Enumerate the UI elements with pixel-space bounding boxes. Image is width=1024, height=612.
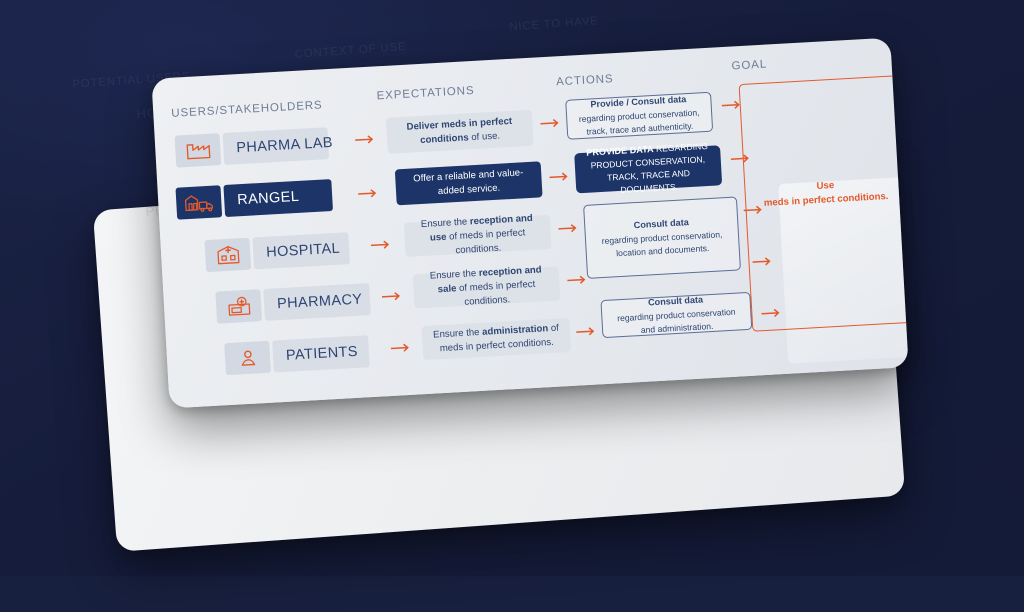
- arrow-icon: [558, 223, 579, 233]
- expectation-chip-hospital[interactable]: Ensure the reception and use of meds in …: [404, 215, 552, 257]
- stakeholder-row-pharmacy[interactable]: PHARMACY: [215, 283, 371, 324]
- action-text: Consult dataregarding product conservati…: [593, 214, 731, 261]
- stakeholder-row-rangel[interactable]: RANGEL: [175, 179, 333, 220]
- stakeholder-label: RANGEL: [223, 179, 333, 217]
- stakeholder-label: HOSPITAL: [252, 232, 350, 269]
- arrow-icon: [358, 188, 379, 198]
- stakeholder-row-hospital[interactable]: HOSPITAL: [204, 232, 350, 272]
- person-icon: [224, 341, 271, 375]
- stakeholder-row-pharma-lab[interactable]: PHARMA LAB: [175, 127, 330, 167]
- action-box-provide-data[interactable]: PROVIDE DATA REGARDING PRODUCT CONSERVAT…: [574, 145, 722, 193]
- screenshot-root: POTENTIAL USERS CONTEXT OF USE NICE TO H…: [0, 0, 1024, 576]
- ghost-text: CONTEXT OF USE: [294, 41, 407, 61]
- arrow-icon: [391, 343, 412, 353]
- expectation-text: Ensure the reception and use of meds in …: [413, 212, 543, 261]
- column-header-users-stakeholders: USERS/STAKEHOLDERS: [171, 99, 323, 119]
- warehouse-truck-icon: [175, 185, 222, 219]
- expectation-text: Ensure the administration of meds in per…: [431, 322, 562, 357]
- expectation-chip-pharmacy[interactable]: Ensure the reception and sale of meds in…: [413, 266, 561, 308]
- primary-journey-card: USERS/STAKEHOLDERS EXPECTATIONS ACTIONS …: [151, 38, 908, 409]
- arrow-icon: [549, 172, 570, 182]
- action-box-provide-consult-data[interactable]: Provide / Consult dataregarding product …: [565, 92, 713, 140]
- column-header-goal: GOAL: [731, 59, 767, 73]
- stakeholder-label: PHARMACY: [263, 283, 371, 321]
- arrow-icon: [567, 275, 588, 285]
- arrow-icon: [540, 118, 561, 128]
- stakeholder-label: PATIENTS: [272, 335, 370, 372]
- ghost-text: NICE TO HAVE: [509, 15, 599, 33]
- arrow-icon: [576, 326, 597, 336]
- expectation-chip-pharma-lab[interactable]: Deliver meds in perfect conditions of us…: [386, 110, 534, 154]
- column-header-expectations: EXPECTATIONS: [376, 85, 474, 102]
- expectation-chip-rangel[interactable]: Offer a reliable and value-added service…: [395, 161, 543, 205]
- arrow-icon: [355, 134, 376, 144]
- pharmacy-icon: [215, 289, 262, 323]
- hospital-icon: [204, 238, 251, 272]
- expectation-text: Deliver meds in perfect conditions of us…: [395, 114, 524, 149]
- expectation-chip-patients[interactable]: Ensure the administration of meds in per…: [422, 318, 572, 360]
- factory-icon: [175, 133, 222, 167]
- expectation-text: Ensure the reception and sale of meds in…: [421, 263, 551, 312]
- action-box-consult-data-location[interactable]: Consult dataregarding product conservati…: [583, 196, 741, 278]
- action-text: PROVIDE DATA REGARDING PRODUCT CONSERVAT…: [583, 140, 714, 199]
- expectation-text: Offer a reliable and value-added service…: [404, 166, 533, 201]
- action-box-consult-data-administration[interactable]: Consult dataregarding product conservati…: [600, 292, 752, 338]
- action-text: Provide / Consult dataregarding product …: [574, 92, 704, 139]
- action-text: Consult dataregarding product conservati…: [609, 292, 743, 339]
- arrow-icon: [382, 291, 403, 301]
- stakeholder-label: PHARMA LAB: [222, 127, 329, 165]
- arrow-icon: [371, 240, 392, 250]
- column-header-actions: ACTIONS: [556, 73, 614, 88]
- stakeholder-row-patients[interactable]: PATIENTS: [224, 335, 370, 375]
